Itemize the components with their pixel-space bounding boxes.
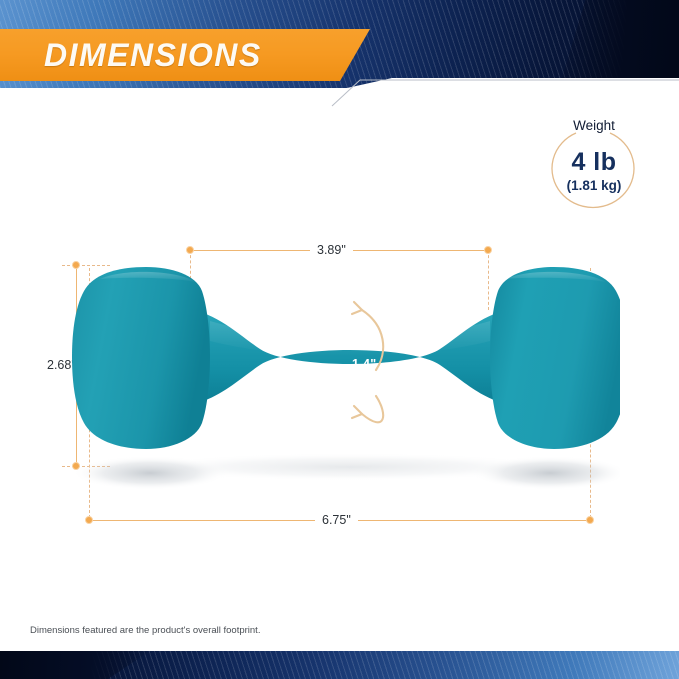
weight-label: Weight [548,118,640,133]
dimension-label-handle-diameter: 1.4" [352,357,377,371]
dimension-label-overall-length: 6.75" [315,513,358,527]
dumbbell-head-left [72,267,210,449]
footnote-text: Dimensions featured are the product's ov… [30,625,260,636]
dumbbell-head-right [490,267,620,449]
footer-banner [0,651,679,679]
dimension-endpoint-dot [586,516,594,524]
weight-value: 4 lb [548,148,640,177]
dimension-endpoint-dot [85,516,93,524]
weight-badge: Weight 4 lb (1.81 kg) [548,118,640,210]
infographic-canvas: DIMENSIONS Weight 4 lb (1.81 kg) 3.89" 2… [0,0,679,679]
page-title: DIMENSIONS [44,37,262,74]
weight-metric-value: (1.81 kg) [548,178,640,193]
header-hairline [330,68,679,108]
